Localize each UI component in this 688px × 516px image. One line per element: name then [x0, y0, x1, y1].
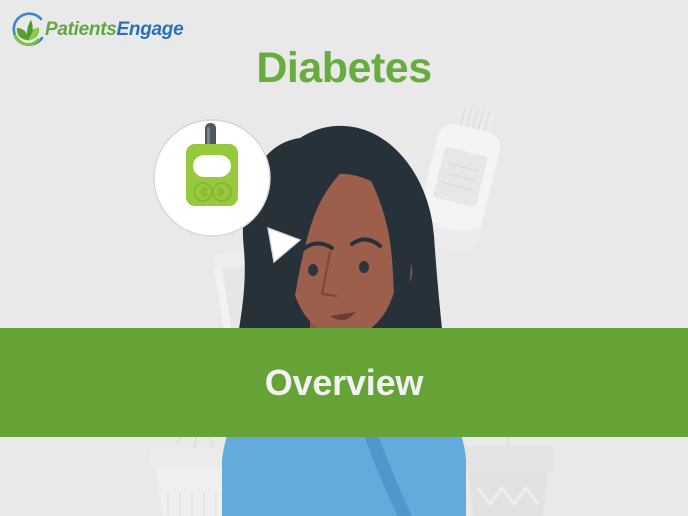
brand-logo-text: PatientsEngage — [45, 19, 183, 41]
brand-name-secondary: Engage — [117, 19, 184, 40]
illustration-svg — [0, 100, 688, 516]
brand-name-primary: Patients — [45, 19, 117, 40]
eye-right — [359, 261, 369, 273]
section-banner-label: Overview — [265, 362, 424, 404]
section-banner: Overview — [0, 328, 688, 437]
presentation-slide: PatientsEngage Diabetes — [0, 0, 688, 516]
page-title: Diabetes — [0, 44, 688, 93]
illustration-stage — [0, 100, 688, 516]
eye-left — [308, 264, 318, 276]
